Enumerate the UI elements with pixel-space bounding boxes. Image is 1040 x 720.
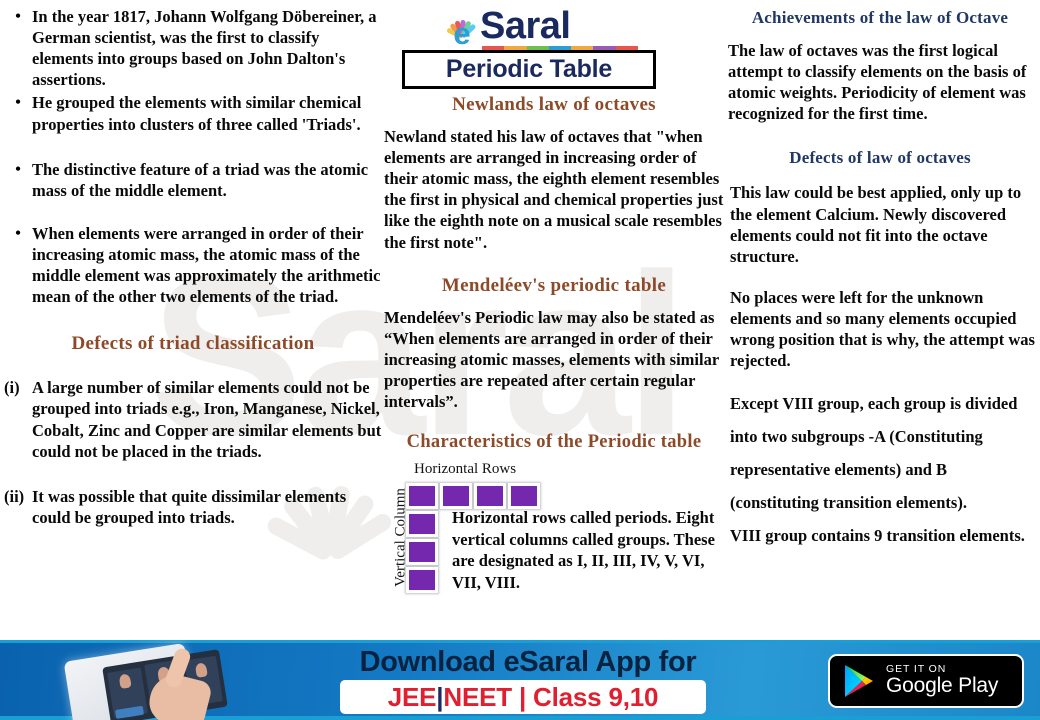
list-item: • The distinctive feature of a triad was… [4,159,382,201]
defects-of-octaves-heading: Defects of law of octaves [724,148,1036,168]
list-item-text: It was possible that quite dissimilar el… [32,486,382,528]
mendeleev-heading: Mendeléev's periodic table [384,275,724,297]
list-item-label: (i) [4,377,32,398]
achievements-body: The law of octaves was the first logical… [724,40,1036,124]
tablet-illustration [58,648,258,720]
grid-square [406,483,438,509]
page-title: Periodic Table [446,55,612,84]
defects-of-triad-heading: Defects of triad classification [4,333,382,355]
banner-courses-pill: JEE | NEET | Class 9,10 [340,680,706,714]
bullet-marker: • [4,159,32,180]
banner-headline: Download eSaral App for [338,646,718,679]
google-play-icon [844,664,874,698]
list-item: (ii) It was possible that quite dissimil… [4,486,382,528]
bullet-marker: • [4,223,32,244]
banner-course-jee: JEE [388,682,437,713]
grid-square [508,483,540,509]
groups-body-2: VIII group contains 9 transition element… [724,519,1036,552]
periodic-table-diagram: Horizontal Rows Vertical Column Horizont… [384,461,724,611]
banner-course-separator: | [436,682,443,713]
google-play-badge[interactable]: GET IT ON Google Play [828,654,1024,708]
esaral-logo: e Saral [436,4,672,50]
bullet-marker: • [4,92,32,113]
logo-wordmark: Saral [480,6,570,46]
infographic-page: Saral • In the year 1817, Johann Wolfgan… [0,0,1040,720]
banner-course-rest: NEET | Class 9,10 [443,682,658,713]
newlands-law-heading: Newlands law of octaves [384,94,724,116]
achievements-heading: Achievements of the law of Octave [724,8,1036,28]
grid-square [406,567,438,593]
bullet-text: When elements were arranged in order of … [32,223,382,307]
horizontal-rows-label: Horizontal Rows [414,461,516,478]
diagram-caption: Horizontal rows called periods. Eight ve… [452,507,727,593]
mendeleev-body: Mendeléev's Periodic law may also be sta… [384,307,724,413]
periodic-table-title-box: Periodic Table [402,50,656,89]
groups-body-1: Except VIII group, each group is divided… [724,387,1036,519]
google-play-text: GET IT ON Google Play [886,664,998,697]
list-item: • He grouped the elements with similar c… [4,92,382,134]
defects-of-octaves-body-1: This law could be best applied, only up … [724,182,1036,266]
newlands-law-body: Newland stated his law of octaves that "… [384,126,724,253]
bullet-text: In the year 1817, Johann Wolfgang Döbere… [32,6,382,90]
left-column: • In the year 1817, Johann Wolfgang Döbe… [4,0,382,528]
badge-google-play: Google Play [886,675,998,697]
list-item-text: A large number of similar elements could… [32,377,382,461]
banner-top-rule [0,640,1040,643]
grid-square [406,511,438,537]
bullet-marker: • [4,6,32,27]
bullet-text: The distinctive feature of a triad was t… [32,159,382,201]
list-item: • When elements were arranged in order o… [4,223,382,307]
center-column: e Saral Periodic Table Newlands law of o… [384,0,724,611]
list-item: • In the year 1817, Johann Wolfgang Döbe… [4,6,382,90]
grid-square [406,539,438,565]
characteristics-heading: Characteristics of the Periodic table [384,432,724,453]
logo-letter-e: e [448,20,476,48]
list-item-label: (ii) [4,486,32,507]
grid-square [440,483,472,509]
defects-of-octaves-body-2: No places were left for the unknown elem… [724,287,1036,371]
bullet-text: He grouped the elements with similar che… [32,92,382,134]
grid-square [474,483,506,509]
list-item: (i) A large number of similar elements c… [4,377,382,461]
right-column: Achievements of the law of Octave The la… [724,0,1036,552]
download-app-banner[interactable]: Download eSaral App for JEE | NEET | Cla… [0,640,1040,720]
